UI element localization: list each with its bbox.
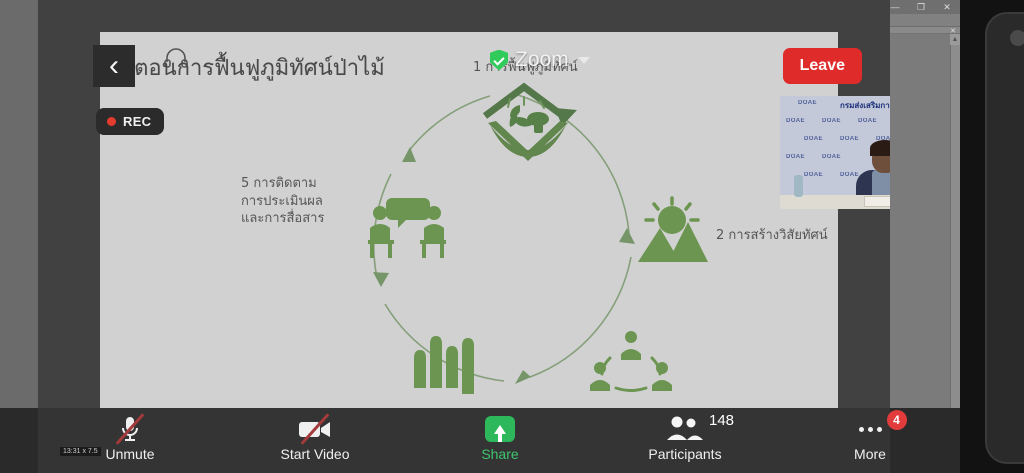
participant-video-thumbnail[interactable]: กรมส่งเสริมการเกษตร DOAE DOAE DOAE DOAE … [780, 96, 890, 209]
backdrop-logo: DOAE [840, 136, 859, 142]
sun-mountain-icon [632, 196, 714, 270]
chevron-down-icon[interactable] [578, 57, 590, 64]
window-controls: — ❐ ✕ [882, 0, 960, 14]
participants-button[interactable]: 148 Participants [633, 414, 737, 470]
security-shield-icon [490, 50, 508, 71]
backdrop-title: กรมส่งเสริมการเกษตร [840, 99, 890, 112]
backdrop-logo: DOAE [798, 100, 817, 106]
zoom-shared-screen: 5 การติดตาม การประเมินผล และการสื่อสาร 2… [38, 0, 890, 439]
participants-count: 148 [709, 412, 734, 429]
recording-indicator: REC [96, 108, 164, 135]
backdrop-logo: DOAE [822, 118, 841, 124]
secondary-device-frame [985, 12, 1024, 464]
unmute-button[interactable]: Unmute [78, 414, 182, 470]
more-dots-icon: 4 [859, 414, 882, 444]
share-label: Share [481, 446, 518, 462]
raised-hands-icon [406, 334, 484, 396]
scroll-up-icon[interactable]: ▲ [950, 34, 960, 45]
backdrop-logo: DOAE [786, 118, 805, 124]
share-screen-icon [485, 414, 515, 444]
close-button[interactable]: ✕ [934, 0, 960, 14]
zoom-brand[interactable]: Zoom [490, 48, 590, 72]
backdrop-logo: DOAE [858, 118, 877, 124]
two-people-talking-icon [366, 196, 450, 262]
slide-title: ขั้นตอนการฟื้นฟูภูมิทัศน์ป่าไม้ [104, 50, 385, 85]
more-button[interactable]: 4 More [818, 414, 922, 470]
more-badge: 4 [887, 410, 907, 430]
leave-button[interactable]: Leave [783, 48, 862, 84]
recording-dot-icon [107, 117, 116, 126]
device-camera-icon [1010, 30, 1024, 46]
backdrop-logo: DOAE [804, 136, 823, 142]
person-hair [870, 140, 890, 156]
vertical-scrollbar[interactable] [950, 34, 960, 418]
people-network-icon [588, 330, 674, 394]
start-video-label: Start Video [280, 446, 349, 462]
timestamp-overlay: 13:31 x 7.5 [60, 447, 101, 456]
step-label-5: 5 การติดตาม การประเมินผล และการสื่อสาร [241, 175, 324, 228]
backdrop-logo: DOAE [804, 172, 823, 178]
backdrop-logo: DOAE [822, 154, 841, 160]
hands-holding-seedling-icon [478, 95, 578, 167]
recording-label: REC [123, 114, 151, 129]
participants-label: Participants [648, 446, 721, 462]
microphone-muted-icon [119, 414, 141, 444]
share-button[interactable]: Share [448, 414, 552, 470]
maximize-button[interactable]: ❐ [908, 0, 934, 14]
more-label: More [854, 446, 886, 462]
backdrop-logo: DOAE [840, 172, 859, 178]
nameplate [864, 196, 890, 207]
unmute-label: Unmute [105, 446, 154, 462]
camera-off-icon [298, 414, 332, 444]
chevron-left-icon[interactable]: ‹ [93, 45, 135, 87]
participants-icon: 148 [663, 414, 707, 444]
start-video-button[interactable]: Start Video [263, 414, 367, 470]
zoom-brand-label: Zoom [515, 48, 569, 72]
step-label-2: 2 การสร้างวิสัยทัศน์ [716, 227, 828, 245]
screen-root: การปลูกไม้ยืนต้นและกฎระเบียบที่เกี่ยวข้อ… [0, 0, 1024, 473]
water-bottle [794, 175, 803, 197]
backdrop-logo: DOAE [786, 154, 805, 160]
